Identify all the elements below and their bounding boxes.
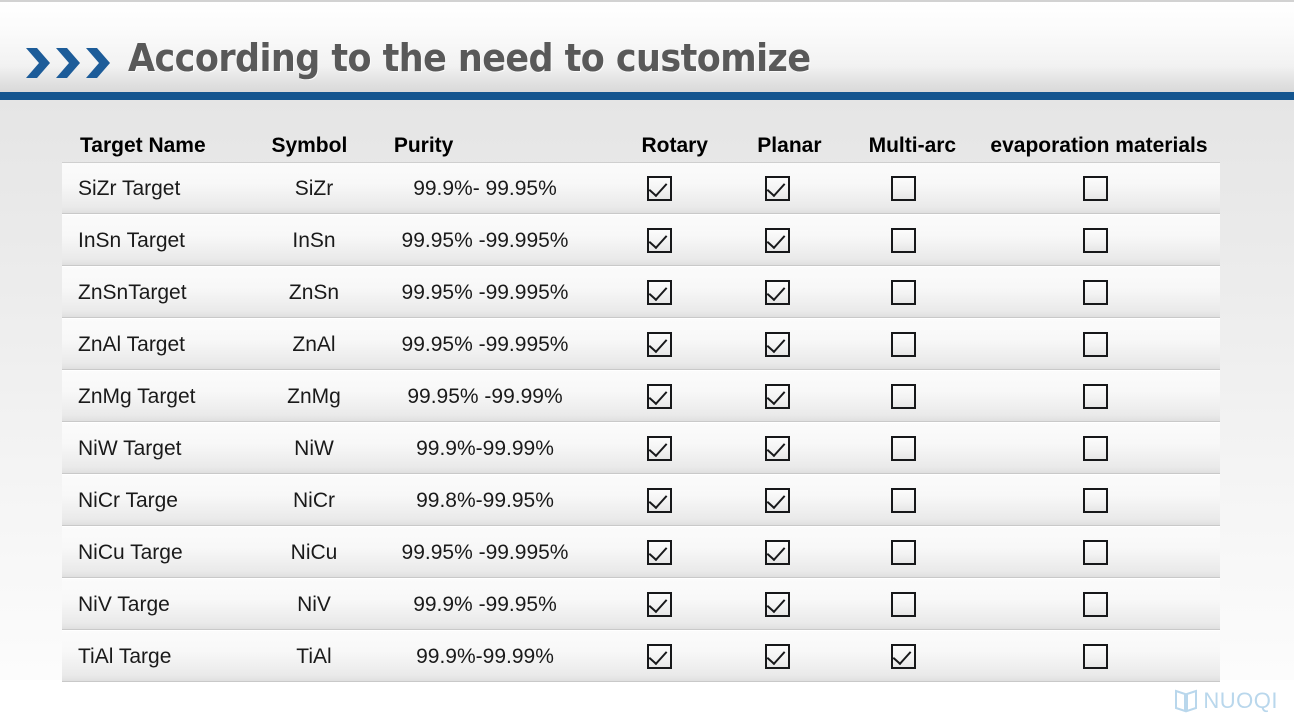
checkbox-multi-arc-unchecked-icon[interactable] [891, 488, 916, 513]
checkbox-planar-checked-icon[interactable] [765, 488, 790, 513]
checkbox-planar-cell [718, 228, 836, 253]
cell-symbol: ZnMg [258, 386, 370, 407]
checkbox-evaporation-unchecked-icon[interactable] [1083, 540, 1108, 565]
checkbox-planar-checked-icon[interactable] [765, 592, 790, 617]
checkbox-evaporation-cell [971, 384, 1220, 409]
table-row: InSn TargetInSn99.95% -99.995% [62, 215, 1220, 267]
table-row: ZnMg TargetZnMg99.95% -99.99% [62, 371, 1220, 423]
cell-target-name: NiCu Targe [62, 542, 258, 563]
cell-symbol: NiV [258, 594, 370, 615]
checkbox-rotary-cell [600, 592, 718, 617]
checkbox-multi-arc-cell [836, 436, 971, 461]
cell-target-name: NiV Targe [62, 594, 258, 615]
cell-purity: 99.95% -99.995% [370, 542, 600, 563]
slide: According to the need to customize Targe… [0, 0, 1294, 726]
table-header-row: Target Name Symbol Purity Rotary Planar … [62, 118, 1220, 162]
checkbox-evaporation-unchecked-icon[interactable] [1083, 176, 1108, 201]
checkbox-rotary-checked-icon[interactable] [647, 644, 672, 669]
cell-target-name: NiCr Targe [62, 490, 258, 511]
checkbox-rotary-cell [600, 228, 718, 253]
cell-symbol: ZnAl [258, 334, 370, 355]
checkbox-planar-cell [718, 436, 836, 461]
checkbox-evaporation-unchecked-icon[interactable] [1083, 436, 1108, 461]
checkbox-rotary-cell [600, 488, 718, 513]
checkbox-planar-cell [718, 280, 836, 305]
checkbox-evaporation-unchecked-icon[interactable] [1083, 488, 1108, 513]
checkbox-multi-arc-unchecked-icon[interactable] [891, 228, 916, 253]
checkbox-rotary-checked-icon[interactable] [647, 540, 672, 565]
checkbox-multi-arc-unchecked-icon[interactable] [891, 332, 916, 357]
checkbox-planar-cell [718, 332, 836, 357]
cell-purity: 99.95% -99.995% [370, 334, 600, 355]
checkbox-multi-arc-unchecked-icon[interactable] [891, 436, 916, 461]
checkbox-rotary-cell [600, 436, 718, 461]
checkbox-planar-checked-icon[interactable] [765, 644, 790, 669]
checkbox-multi-arc-cell [836, 332, 971, 357]
column-header-multi-arc: Multi-arc [847, 135, 978, 162]
checkbox-rotary-checked-icon[interactable] [647, 332, 672, 357]
brand-logo: NUOQI [1174, 688, 1278, 714]
checkbox-evaporation-cell [971, 332, 1220, 357]
checkbox-multi-arc-unchecked-icon[interactable] [891, 384, 916, 409]
chevron-right-icon [84, 45, 112, 81]
page-title: According to the need to customize [128, 36, 811, 80]
cell-purity: 99.9%- 99.95% [370, 178, 600, 199]
checkbox-multi-arc-cell [836, 176, 971, 201]
checkbox-multi-arc-cell [836, 644, 971, 669]
checkbox-rotary-checked-icon[interactable] [647, 488, 672, 513]
table-row: SiZr TargetSiZr99.9%- 99.95% [62, 163, 1220, 215]
checkbox-planar-checked-icon[interactable] [765, 332, 790, 357]
checkbox-multi-arc-unchecked-icon[interactable] [891, 592, 916, 617]
cell-symbol: NiCu [258, 542, 370, 563]
checkbox-planar-checked-icon[interactable] [765, 540, 790, 565]
checkbox-evaporation-cell [971, 280, 1220, 305]
cell-symbol: NiCr [258, 490, 370, 511]
cell-target-name: SiZr Target [62, 178, 258, 199]
checkbox-multi-arc-unchecked-icon[interactable] [891, 540, 916, 565]
header-accent-bar [0, 92, 1294, 100]
cell-purity: 99.8%-99.95% [370, 490, 600, 511]
checkbox-multi-arc-cell [836, 228, 971, 253]
checkbox-planar-checked-icon[interactable] [765, 436, 790, 461]
checkbox-planar-cell [718, 488, 836, 513]
cell-symbol: ZnSn [258, 282, 370, 303]
checkbox-planar-cell [718, 176, 836, 201]
cell-purity: 99.9%-99.99% [370, 646, 600, 667]
checkbox-rotary-cell [600, 644, 718, 669]
checkbox-planar-cell [718, 644, 836, 669]
checkbox-evaporation-unchecked-icon[interactable] [1083, 228, 1108, 253]
chevron-right-icon [24, 45, 52, 81]
nuoqi-mark-icon [1174, 688, 1198, 714]
cell-symbol: SiZr [258, 178, 370, 199]
table-row: TiAl TargeTiAl99.9%-99.99% [62, 631, 1220, 683]
checkbox-evaporation-cell [971, 488, 1220, 513]
cell-symbol: NiW [258, 438, 370, 459]
checkbox-evaporation-cell [971, 176, 1220, 201]
checkbox-multi-arc-checked-icon[interactable] [891, 644, 916, 669]
checkbox-evaporation-cell [971, 228, 1220, 253]
checkbox-planar-cell [718, 384, 836, 409]
cell-target-name: InSn Target [62, 230, 258, 251]
checkbox-evaporation-unchecked-icon[interactable] [1083, 644, 1108, 669]
checkbox-multi-arc-cell [836, 280, 971, 305]
checkbox-multi-arc-cell [836, 384, 971, 409]
cell-purity: 99.95% -99.995% [370, 230, 600, 251]
checkbox-evaporation-unchecked-icon[interactable] [1083, 332, 1108, 357]
table-row: NiV TargeNiV99.9% -99.95% [62, 579, 1220, 631]
brand-name: NUOQI [1203, 690, 1278, 712]
checkbox-rotary-cell [600, 384, 718, 409]
checkbox-rotary-cell [600, 176, 718, 201]
checkbox-evaporation-cell [971, 644, 1220, 669]
checkbox-planar-cell [718, 592, 836, 617]
checkbox-rotary-cell [600, 540, 718, 565]
checkbox-rotary-checked-icon[interactable] [647, 228, 672, 253]
checkbox-evaporation-unchecked-icon[interactable] [1083, 384, 1108, 409]
checkbox-rotary-checked-icon[interactable] [647, 436, 672, 461]
checkbox-evaporation-cell [971, 436, 1220, 461]
checkbox-evaporation-cell [971, 540, 1220, 565]
cell-purity: 99.95% -99.99% [370, 386, 600, 407]
column-header-target-name: Target Name [64, 135, 255, 162]
cell-symbol: TiAl [258, 646, 370, 667]
column-header-symbol: Symbol [255, 135, 364, 162]
column-header-evaporation: evaporation materials [978, 135, 1220, 162]
checkbox-planar-checked-icon[interactable] [765, 384, 790, 409]
checkbox-multi-arc-cell [836, 540, 971, 565]
cell-purity: 99.9% -99.95% [370, 594, 600, 615]
checkbox-rotary-checked-icon[interactable] [647, 280, 672, 305]
cell-target-name: NiW Target [62, 438, 258, 459]
chevron-right-icon [54, 45, 82, 81]
checkbox-planar-checked-icon[interactable] [765, 280, 790, 305]
checkbox-evaporation-unchecked-icon[interactable] [1083, 592, 1108, 617]
chevron-arrows-icon [24, 44, 116, 82]
checkbox-rotary-checked-icon[interactable] [647, 176, 672, 201]
checkbox-multi-arc-unchecked-icon[interactable] [891, 280, 916, 305]
checkbox-evaporation-unchecked-icon[interactable] [1083, 280, 1108, 305]
table-row: ZnSnTargetZnSn99.95% -99.995% [62, 267, 1220, 319]
table-row: NiCu TargeNiCu99.95% -99.995% [62, 527, 1220, 579]
table-row: NiCr TargeNiCr99.8%-99.95% [62, 475, 1220, 527]
cell-purity: 99.95% -99.995% [370, 282, 600, 303]
checkbox-evaporation-cell [971, 592, 1220, 617]
cell-target-name: ZnSnTarget [62, 282, 258, 303]
cell-purity: 99.9%-99.99% [370, 438, 600, 459]
checkbox-planar-checked-icon[interactable] [765, 176, 790, 201]
checkbox-rotary-cell [600, 280, 718, 305]
checkbox-multi-arc-cell [836, 592, 971, 617]
checkbox-rotary-cell [600, 332, 718, 357]
checkbox-rotary-checked-icon[interactable] [647, 592, 672, 617]
cell-target-name: ZnMg Target [62, 386, 258, 407]
column-header-purity: Purity [364, 135, 618, 162]
cell-target-name: TiAl Targe [62, 646, 258, 667]
table-row: NiW TargetNiW99.9%-99.99% [62, 423, 1220, 475]
checkbox-planar-checked-icon[interactable] [765, 228, 790, 253]
cell-target-name: ZnAl Target [62, 334, 258, 355]
checkbox-planar-cell [718, 540, 836, 565]
table-row: ZnAl TargetZnAl99.95% -99.995% [62, 319, 1220, 371]
checkbox-multi-arc-unchecked-icon[interactable] [891, 176, 916, 201]
table-body: SiZr TargetSiZr99.9%- 99.95%InSn TargetI… [62, 162, 1220, 683]
target-materials-table: Target Name Symbol Purity Rotary Planar … [62, 118, 1220, 683]
checkbox-rotary-checked-icon[interactable] [647, 384, 672, 409]
column-header-planar: Planar [732, 135, 847, 162]
checkbox-multi-arc-cell [836, 488, 971, 513]
cell-symbol: InSn [258, 230, 370, 251]
column-header-rotary: Rotary [617, 135, 732, 162]
